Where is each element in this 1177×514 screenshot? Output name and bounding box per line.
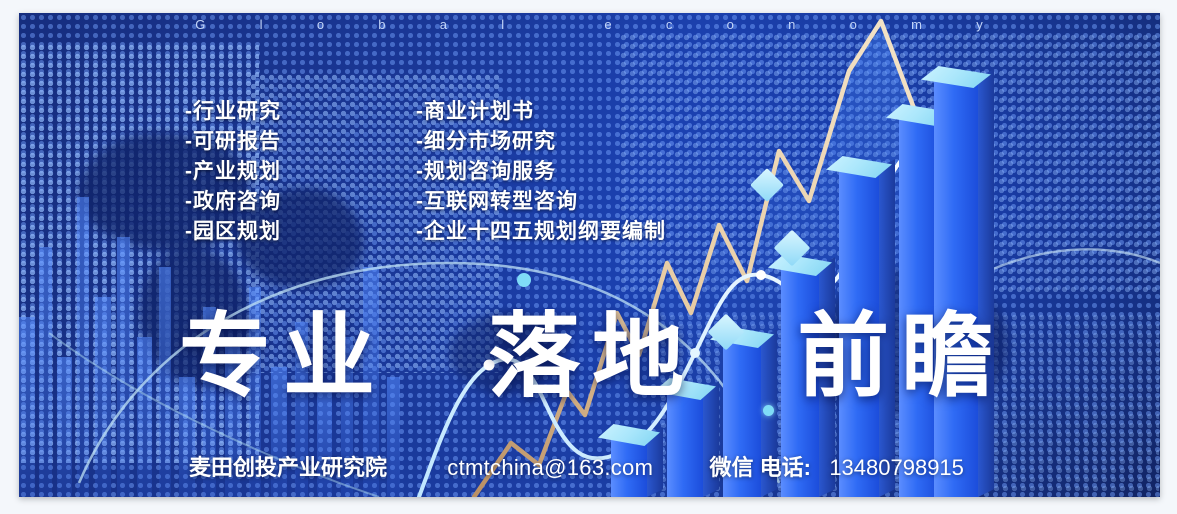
kicker-letter: m: [911, 17, 923, 32]
bar-front: [934, 77, 978, 497]
bar-side: [978, 69, 994, 497]
kicker-letter: o: [850, 17, 858, 32]
service-item: -园区规划: [185, 217, 281, 247]
service-item: -企业十四五规划纲要编制: [416, 217, 666, 247]
headline-word-1: 专业: [179, 306, 387, 408]
arc-apex-node: [517, 273, 531, 287]
kicker-letter: b: [378, 17, 386, 32]
kicker-letter: c: [666, 17, 674, 32]
chart-bar-7: [934, 77, 978, 497]
service-list-left: -行业研究 -可研报告 -产业规划 -政府咨询 -园区规划: [185, 97, 281, 247]
service-item: -互联网转型咨询: [416, 187, 666, 217]
kicker-global-economy: G l o b a l e c o n o m y: [19, 17, 1160, 32]
service-item: -产业规划: [185, 157, 281, 187]
service-item: -政府咨询: [185, 187, 281, 217]
headline-word-2: 落地: [488, 306, 696, 408]
kicker-letter: o: [317, 17, 325, 32]
kicker-letter: l: [260, 17, 264, 32]
service-list-right: -商业计划书 -细分市场研究 -规划咨询服务 -互联网转型咨询 -企业十四五规划…: [416, 97, 666, 247]
contact-label: 微信 电话:: [709, 455, 810, 480]
headline-word-3: 前瞻: [797, 306, 1005, 408]
curve-node: [756, 270, 766, 280]
kicker-letter: a: [440, 17, 448, 32]
company-name: 麦田创投产业研究院: [189, 455, 387, 480]
kicker-letter: G: [195, 17, 206, 32]
service-item: -可研报告: [185, 127, 281, 157]
kicker-letter: o: [727, 17, 735, 32]
kicker-letter: l: [501, 17, 505, 32]
kicker-letter: e: [604, 17, 612, 32]
footer-contact-bar: 麦田创投产业研究院 ctmtchina@163.com 微信 电话: 13480…: [189, 450, 964, 482]
service-item: -行业研究: [185, 97, 281, 127]
marketing-banner: G l o b a l e c o n o m y -行业研究 -可研报告 -产…: [19, 13, 1160, 497]
service-item: -细分市场研究: [416, 127, 666, 157]
service-item: -规划咨询服务: [416, 157, 666, 187]
service-item: -商业计划书: [416, 97, 666, 127]
email-address[interactable]: ctmtchina@163.com: [447, 455, 653, 480]
headline-slogan: 专业 落地 前瞻: [179, 311, 1005, 403]
kicker-letter: y: [976, 17, 984, 32]
phone-number[interactable]: 13480798915: [829, 455, 964, 480]
kicker-letter: n: [788, 17, 796, 32]
